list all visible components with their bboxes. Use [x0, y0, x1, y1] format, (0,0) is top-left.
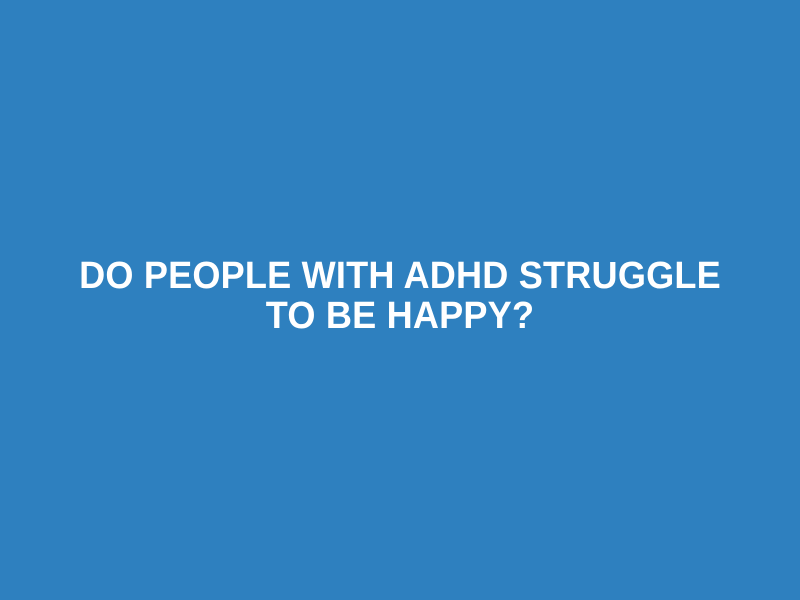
headline-block: Do people with ADHD struggle to be happy…: [50, 256, 750, 336]
featured-image-card: Do people with ADHD struggle to be happy…: [0, 0, 800, 600]
page-title: Do people with ADHD struggle to be happy…: [68, 256, 733, 336]
